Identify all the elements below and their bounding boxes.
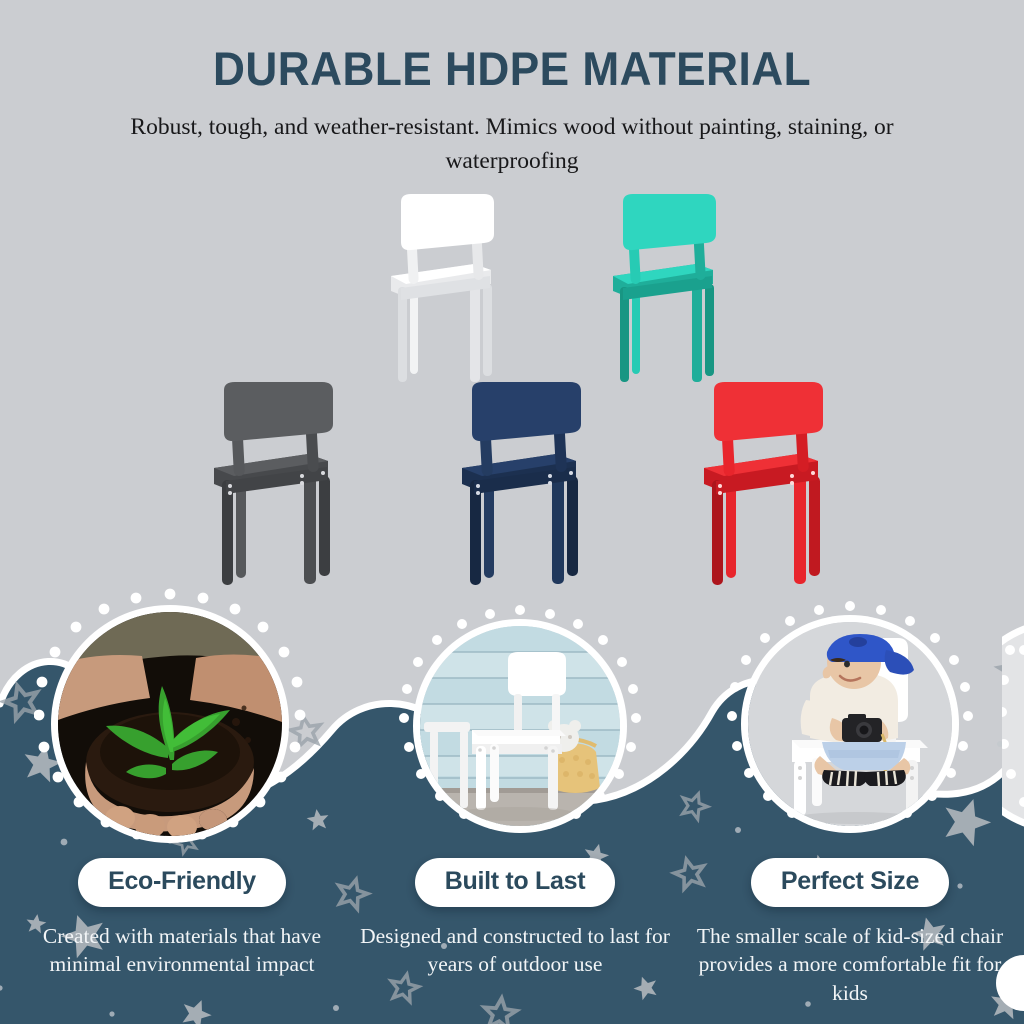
medallion-seedling — [34, 588, 306, 860]
page-subtitle: Robust, tough, and weather-resistant. Mi… — [112, 111, 912, 178]
chair-teal — [566, 192, 742, 392]
feature-label: Perfect Size — [781, 867, 919, 895]
feature-perfect-size: Perfect Size The smaller scale of kid-si… — [688, 858, 1012, 1007]
feature-pill-perfect-size[interactable]: Perfect Size — [751, 858, 949, 907]
chair-white — [344, 192, 520, 392]
feature-eco-friendly: Eco-Friendly Created with materials that… — [22, 858, 342, 979]
medallion-child — [726, 600, 974, 848]
medallion-partial-right — [1002, 606, 1024, 846]
feature-description: The smaller scale of kid-sized chair pro… — [688, 922, 1012, 1007]
medallion-seedling-photo — [58, 612, 282, 836]
feature-built-to-last: Built to Last Designed and constructed t… — [355, 858, 675, 979]
feature-pill-eco-friendly[interactable]: Eco-Friendly — [78, 858, 286, 907]
medallion-chair — [398, 604, 642, 848]
header: DURABLE HDPE MATERIAL Robust, tough, and… — [0, 0, 1024, 178]
feature-pill-built-to-last[interactable]: Built to Last — [415, 858, 616, 907]
product-infographic: DURABLE HDPE MATERIAL Robust, tough, and… — [0, 0, 1024, 1024]
feature-label: Built to Last — [445, 867, 586, 895]
feature-description: Designed and constructed to last for yea… — [355, 922, 675, 979]
page-title: DURABLE HDPE MATERIAL — [31, 0, 994, 93]
medallion-child-photo — [748, 622, 952, 826]
feature-label: Eco-Friendly — [108, 867, 256, 895]
medallion-chair-photo — [420, 626, 620, 826]
feature-description: Created with materials that have minimal… — [22, 922, 342, 979]
